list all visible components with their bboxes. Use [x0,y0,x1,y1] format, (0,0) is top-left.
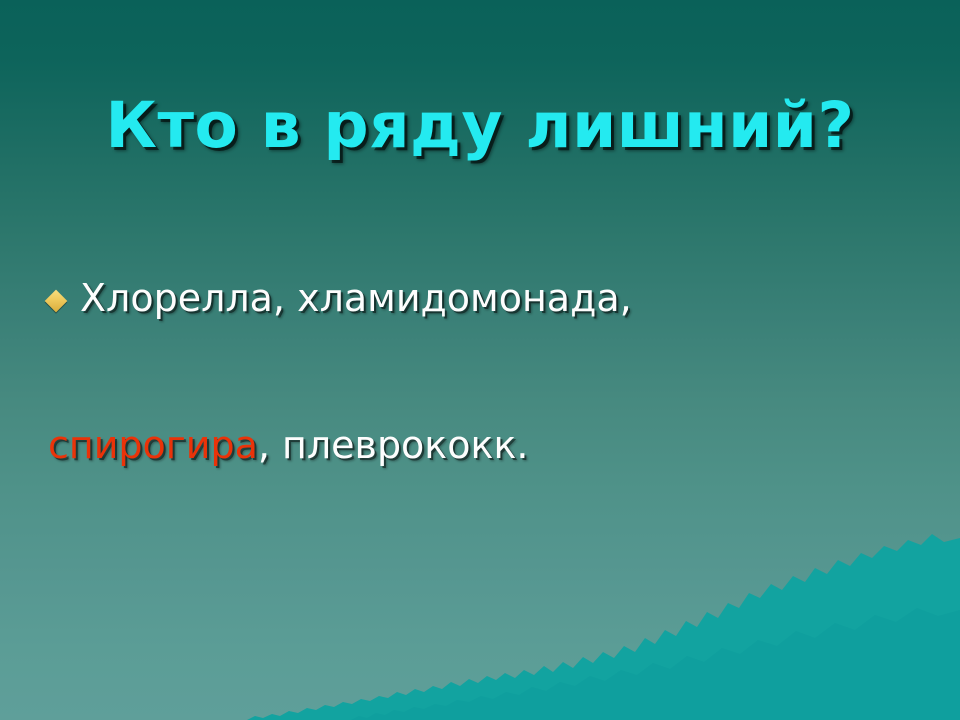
slide-canvas: Кто в ряду лишний? Хлорелла, хламидомона… [0,0,960,720]
bullet-1-text-line-1: Хлорелла, хламидомонада, [80,276,632,320]
bullet-1-text-line-2-rest: , плеврококк. [258,423,529,467]
bullet-1-line-1: Хлорелла, хламидомонада, [48,274,928,323]
slide-title: Кто в ряду лишний? [0,94,960,157]
bullet-item-2[interactable]: Улотрикс, ламинария, ксантория, хламидом… [48,650,928,720]
diamond-bullet-icon [45,290,68,313]
spacer-1 [48,568,928,650]
bullet-item-1[interactable]: Хлорелла, хламидомонада, спирогира, плев… [48,176,928,568]
highlighted-term-spirogira: спирогира [48,423,258,467]
bullet-1-line-2: спирогира, плеврококк. [48,421,928,470]
slide-body: Хлорелла, хламидомонада, спирогира, плев… [48,176,928,720]
